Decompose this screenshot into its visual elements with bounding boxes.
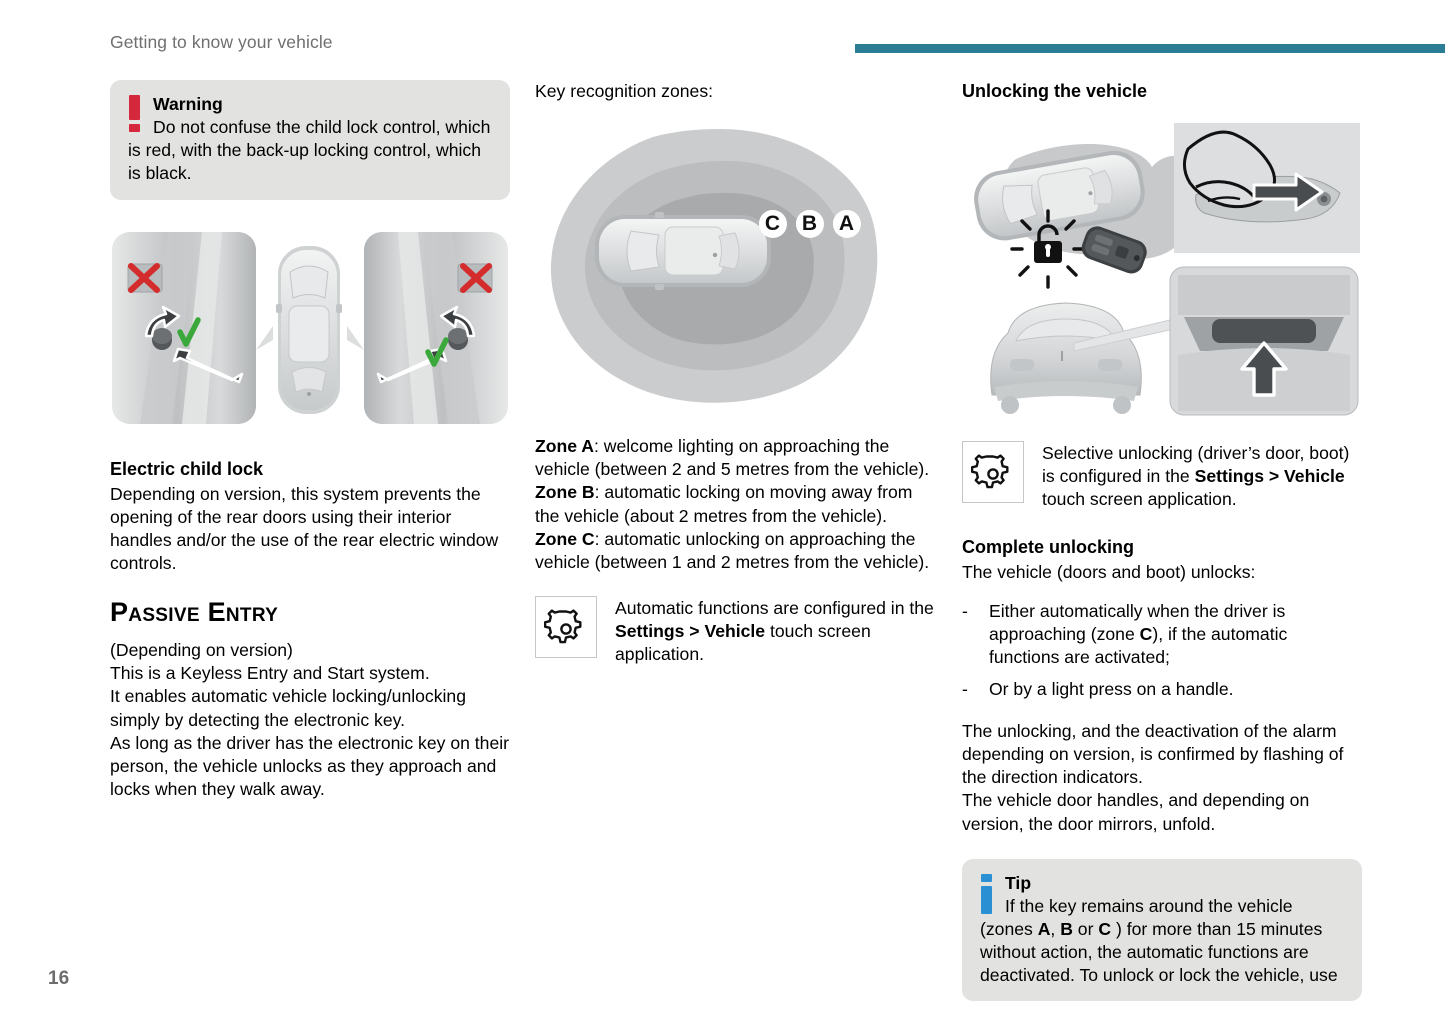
zone-b-description: Zone B: automatic locking on moving away… [535,481,935,527]
left-column: Warning Do not confuse the child lock co… [110,80,510,801]
warning-callout: Warning Do not confuse the child lock co… [110,80,510,200]
key-recognition-zones-intro: Key recognition zones: [535,80,935,103]
zone-c-label: Zone C [535,529,595,549]
page-number: 16 [48,968,69,990]
complete-unlocking-heading: Complete unlocking [962,536,1362,559]
gear-icon-svg [971,450,1015,494]
list-item: - Either automatically when the driver i… [962,600,1362,669]
selective-unlocking-callout-text: Selective unlocking (driver’s door, boot… [1042,441,1362,511]
passive-entry-para-1: This is a Keyless Entry and Start system… [110,662,510,685]
automatic-functions-callout-text: Automatic functions are configured in th… [615,596,935,666]
selective-unlocking-callout: Selective unlocking (driver’s door, boot… [962,441,1362,511]
passive-entry-heading: Passive Entry [110,598,510,628]
zone-a-description: Zone A: welcome lighting on approaching … [535,435,935,481]
tip-title: Tip [1005,873,1031,893]
header-rule [855,44,1445,53]
dash-bullet: - [962,600,989,669]
zone-label-a: A [833,210,860,237]
zone-a-label: Zone A [535,436,594,456]
callout-text-bold: Settings > Vehicle [1195,466,1345,486]
zone-label-b: B [796,210,823,237]
tip-callout: Tip If the key remains around the vehicl… [962,859,1362,1002]
callout-text-bold: Settings > Vehicle [615,621,765,641]
child-lock-illustration-svg [110,228,510,428]
tip-text-2: , [1050,919,1060,939]
zone-a-text: : welcome lighting on approaching the ve… [535,436,929,479]
list-item-text: Or by a light press on a handle. [989,678,1234,701]
tip-text-3: or [1073,919,1098,939]
child-lock-illustration [110,228,510,428]
callout-text-after: touch screen application. [1042,489,1237,509]
electric-child-lock-text: Depending on version, this system preven… [110,483,510,576]
callout-text-before: Automatic functions are configured in th… [615,598,934,618]
gear-icon [535,596,597,658]
electric-child-lock-heading: Electric child lock [110,458,510,481]
list-item: - Or by a light press on a handle. [962,678,1362,701]
unlocking-the-vehicle-heading: Unlocking the vehicle [962,80,1362,103]
gear-icon-svg [544,605,588,649]
tip-zone-b: B [1060,919,1073,939]
complete-unlocking-intro: The vehicle (doors and boot) unlocks: [962,561,1362,584]
tip-text: If the key remains around the vehicle (z… [980,895,1344,988]
zone-b-label: Zone B [535,482,595,502]
zone-diagram-svg [535,121,905,411]
key-recognition-zones-diagram: C B A [535,121,905,411]
unlocking-confirmation-text: The unlocking, and the deactivation of t… [962,720,1362,789]
zone-c-text: : automatic unlocking on approaching the… [535,529,929,572]
warning-text: Do not confuse the child lock control, w… [128,117,490,183]
middle-column: Key recognition zones: [535,80,935,666]
dash-bullet: - [962,678,989,701]
info-icon [981,874,992,914]
list-item-text: Either automatically when the driver is … [989,600,1362,669]
running-header-title: Getting to know your vehicle [110,32,333,53]
passive-entry-para-3: As long as the driver has the electronic… [110,732,510,801]
list-item-text-bold: C [1140,624,1153,644]
zone-label-c: C [759,210,786,237]
unlocking-illustration [962,119,1362,419]
warning-title: Warning [153,94,223,114]
zone-c-description: Zone C: automatic unlocking on approachi… [535,528,935,574]
door-handles-unfold-text: The vehicle door handles, and depending … [962,789,1362,835]
tip-zone-c: C [1098,919,1111,939]
gear-icon [962,441,1024,503]
unlocking-illustration-svg [962,119,1362,419]
right-column: Unlocking the vehicle [962,80,1362,1001]
passive-entry-para-2: It enables automatic vehicle locking/unl… [110,685,510,731]
tip-zone-a: A [1038,919,1051,939]
passive-entry-para-0: (Depending on version) [110,639,510,662]
automatic-functions-callout: Automatic functions are configured in th… [535,596,935,666]
exclamation-mark-icon [129,95,140,132]
